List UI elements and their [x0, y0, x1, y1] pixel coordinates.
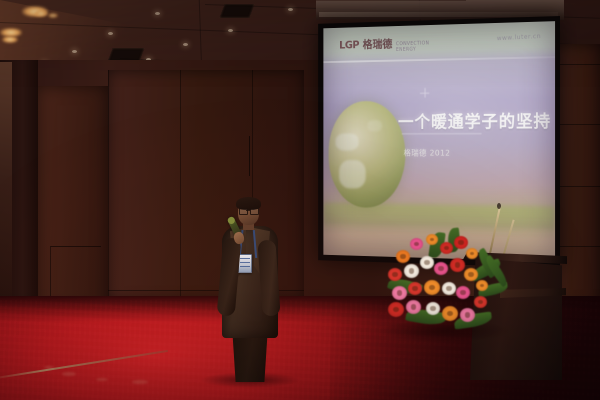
- flower-red: [408, 282, 422, 295]
- wall-seam: [556, 124, 600, 125]
- logo-tagline-line2: ENERGY: [396, 47, 416, 53]
- flower-red: [454, 236, 468, 249]
- logo-chinese-name: 格瑞德: [363, 36, 393, 52]
- wall-seam: [180, 70, 181, 302]
- flower-white: [404, 264, 419, 278]
- flower-pink: [456, 286, 470, 299]
- globe-landmass: [367, 120, 381, 131]
- conference-badge: [238, 254, 252, 273]
- podium-microphone-icon: [497, 203, 501, 209]
- flower-arrangement: [386, 224, 508, 336]
- downlight: [108, 32, 113, 35]
- glasses-bridge: [246, 210, 250, 211]
- lens-right: [250, 208, 259, 215]
- flower-red: [440, 242, 453, 254]
- flower-red: [388, 302, 404, 317]
- flower-red: [450, 258, 465, 272]
- wall-seam: [556, 64, 600, 65]
- downlight: [288, 8, 293, 11]
- warm-ceiling-light: [34, 10, 48, 17]
- flower-pink: [406, 300, 421, 314]
- ceiling-vent: [219, 4, 254, 18]
- downlight: [183, 43, 188, 46]
- speaker: [210, 196, 290, 382]
- floor-scuff: [96, 378, 108, 381]
- sparkle-icon: [420, 88, 429, 98]
- eyeglasses-icon: [239, 208, 258, 213]
- logo-mark: LGP: [339, 39, 359, 52]
- flower-orange: [424, 280, 440, 295]
- flower-white: [442, 282, 456, 295]
- wall-seam: [108, 70, 109, 302]
- logo-english-tagline: CONVECTION ENERGY: [396, 41, 429, 53]
- floor-scuff: [132, 380, 148, 384]
- presentation-photo-scene: LGP 格瑞德 CONVECTION ENERGY www.luter.cn 一…: [0, 0, 600, 400]
- slide-title-underline: [402, 133, 482, 134]
- warm-ceiling-light: [2, 36, 18, 43]
- flower-pink: [392, 286, 407, 300]
- flower-orange: [426, 234, 438, 245]
- floor-scuff: [62, 372, 76, 376]
- badge-line: [240, 266, 250, 267]
- badge-line: [240, 258, 250, 259]
- wall-seam: [556, 186, 600, 187]
- flower-orange: [476, 280, 488, 291]
- speaker-leg-seam: [249, 136, 250, 176]
- flower-pink: [460, 308, 475, 322]
- globe-landmass: [339, 160, 366, 189]
- wall-light-sliver: [0, 62, 12, 300]
- downlight: [155, 12, 160, 15]
- flower-red: [388, 268, 402, 281]
- flower-white: [420, 256, 434, 269]
- flower-pink: [410, 238, 423, 250]
- globe-landmass: [336, 133, 359, 150]
- flower-orange: [466, 248, 478, 259]
- slide-subtitle: 格瑞德 2012: [404, 148, 451, 159]
- slide-title: 一个暖通学子的坚持: [398, 107, 555, 132]
- brand-logo: LGP 格瑞德 CONVECTION ENERGY: [339, 35, 429, 56]
- floor-scuff: [44, 366, 54, 369]
- flower-orange: [464, 268, 478, 281]
- downlight: [228, 29, 233, 32]
- badge-line: [240, 262, 250, 263]
- flower-orange: [396, 250, 410, 263]
- globe-image: [329, 101, 406, 209]
- speaker-legs: [230, 332, 270, 382]
- flower-orange: [442, 306, 458, 321]
- wall-panel: [556, 44, 600, 306]
- downlight: [72, 50, 77, 53]
- flower-pink: [434, 262, 448, 275]
- flower-white: [426, 302, 440, 315]
- wall-seam: [556, 246, 600, 247]
- warm-ceiling-light: [48, 13, 58, 18]
- flower-red: [474, 296, 487, 308]
